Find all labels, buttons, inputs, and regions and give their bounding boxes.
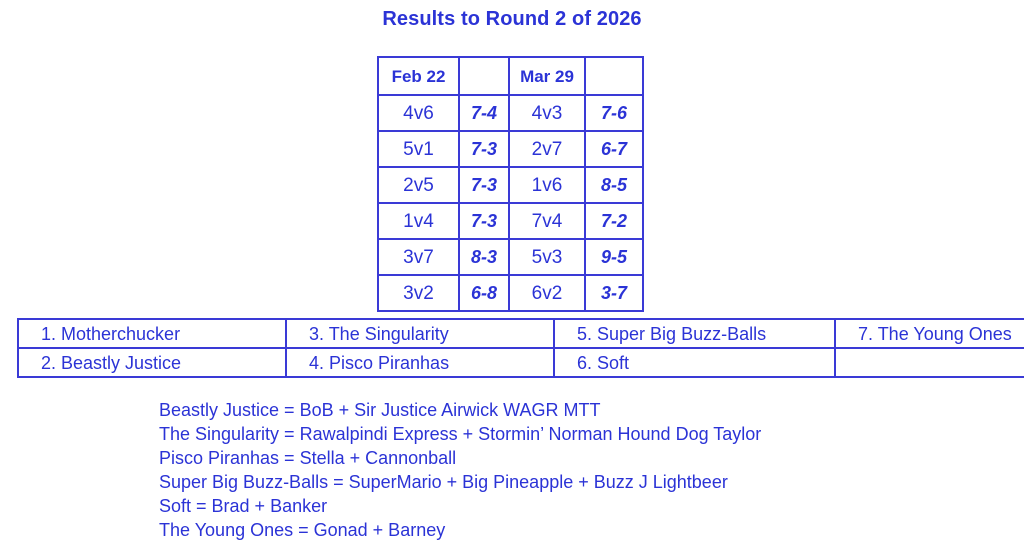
- team-cell: 6. Soft: [554, 348, 835, 377]
- team-cell: 3. The Singularity: [286, 319, 554, 348]
- fixture-cell: 6v2: [509, 275, 585, 311]
- score-cell: 7-3: [459, 131, 509, 167]
- table-row: 1v4 7-3 7v4 7-2: [378, 203, 643, 239]
- score-cell: 6-7: [585, 131, 643, 167]
- score-cell: 9-5: [585, 239, 643, 275]
- page-title: Results to Round 2 of 2026: [0, 8, 1024, 31]
- score-cell: 7-4: [459, 95, 509, 131]
- column-header-date-2: Mar 29: [509, 57, 585, 95]
- fixture-cell: 1v4: [378, 203, 459, 239]
- fixture-cell: 5v3: [509, 239, 585, 275]
- score-cell: 7-6: [585, 95, 643, 131]
- legend-line: Pisco Piranhas = Stella + Cannonball: [159, 446, 761, 470]
- fixture-cell: 7v4: [509, 203, 585, 239]
- score-cell: 7-3: [459, 167, 509, 203]
- score-cell: 7-2: [585, 203, 643, 239]
- table-row: 4v6 7-4 4v3 7-6: [378, 95, 643, 131]
- table-row: 5v1 7-3 2v7 6-7: [378, 131, 643, 167]
- column-header-date-1: Feb 22: [378, 57, 459, 95]
- team-composition-legend: Beastly Justice = BoB + Sir Justice Airw…: [159, 398, 761, 542]
- team-cell: 1. Motherchucker: [18, 319, 286, 348]
- legend-line: Beastly Justice = BoB + Sir Justice Airw…: [159, 398, 761, 422]
- team-cell: 2. Beastly Justice: [18, 348, 286, 377]
- column-header-score-1: [459, 57, 509, 95]
- team-cell: 4. Pisco Piranhas: [286, 348, 554, 377]
- team-cell-empty: [835, 348, 1024, 377]
- table-row: 3v2 6-8 6v2 3-7: [378, 275, 643, 311]
- legend-line: The Singularity = Rawalpindi Express + S…: [159, 422, 761, 446]
- team-cell: 5. Super Big Buzz-Balls: [554, 319, 835, 348]
- teams-row: 1. Motherchucker 3. The Singularity 5. S…: [18, 319, 1024, 348]
- legend-line: Super Big Buzz-Balls = SuperMario + Big …: [159, 470, 761, 494]
- score-cell: 8-3: [459, 239, 509, 275]
- fixture-cell: 3v7: [378, 239, 459, 275]
- fixture-cell: 4v3: [509, 95, 585, 131]
- score-cell: 3-7: [585, 275, 643, 311]
- column-header-score-2: [585, 57, 643, 95]
- score-cell: 6-8: [459, 275, 509, 311]
- teams-row: 2. Beastly Justice 4. Pisco Piranhas 6. …: [18, 348, 1024, 377]
- legend-line: The Young Ones = Gonad + Barney: [159, 518, 761, 542]
- score-cell: 8-5: [585, 167, 643, 203]
- results-table: Feb 22 Mar 29 4v6 7-4 4v3 7-6 5v1 7-3 2v…: [377, 56, 644, 312]
- fixture-cell: 1v6: [509, 167, 585, 203]
- table-row: 3v7 8-3 5v3 9-5: [378, 239, 643, 275]
- fixture-cell: 3v2: [378, 275, 459, 311]
- score-cell: 7-3: [459, 203, 509, 239]
- table-row: 2v5 7-3 1v6 8-5: [378, 167, 643, 203]
- team-cell: 7. The Young Ones: [835, 319, 1024, 348]
- legend-line: Soft = Brad + Banker: [159, 494, 761, 518]
- fixture-cell: 2v5: [378, 167, 459, 203]
- fixture-cell: 4v6: [378, 95, 459, 131]
- table-header-row: Feb 22 Mar 29: [378, 57, 643, 95]
- fixture-cell: 2v7: [509, 131, 585, 167]
- fixture-cell: 5v1: [378, 131, 459, 167]
- teams-grid: 1. Motherchucker 3. The Singularity 5. S…: [17, 318, 1024, 378]
